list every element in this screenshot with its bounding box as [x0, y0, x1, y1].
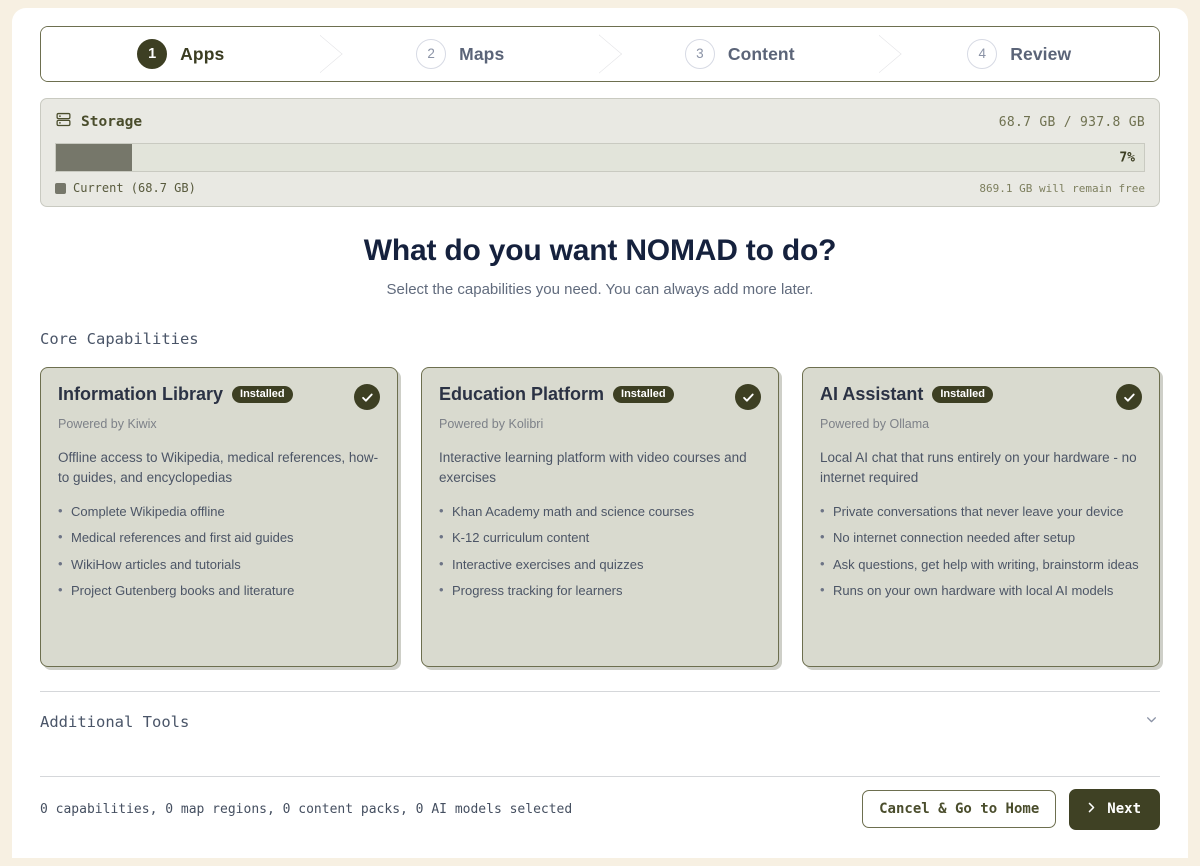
storage-capacity-text: 68.7 GB / 937.8 GB [999, 115, 1145, 130]
list-item: K-12 curriculum content [439, 528, 761, 547]
list-item: Ask questions, get help with writing, br… [820, 555, 1142, 574]
step-maps-number: 2 [416, 39, 446, 69]
selected-check-icon[interactable] [354, 384, 380, 410]
storage-title-group: Storage [55, 111, 142, 133]
legend-color-swatch [55, 183, 66, 194]
core-capabilities-heading: Core Capabilities [40, 330, 1160, 348]
selected-check-icon[interactable] [1116, 384, 1142, 410]
card-feature-list: Khan Academy math and science courses K-… [439, 502, 761, 600]
card-powered-by: Powered by Kiwix [58, 417, 380, 431]
capability-card-information-library[interactable]: Information Library Installed Powered by… [40, 367, 398, 667]
legend-current-label: Current (68.7 GB) [73, 181, 196, 195]
step-maps[interactable]: 2 Maps [321, 27, 601, 81]
list-item: No internet connection needed after setu… [820, 528, 1142, 547]
storage-progress-bar: 7% [55, 143, 1145, 172]
card-header: Information Library Installed [58, 384, 380, 410]
status-badge: Installed [613, 386, 674, 403]
list-item: WikiHow articles and tutorials [58, 555, 380, 574]
list-item: Project Gutenberg books and literature [58, 581, 380, 600]
step-content-number: 3 [685, 39, 715, 69]
step-content-label: Content [728, 44, 795, 65]
step-content[interactable]: 3 Content [600, 27, 880, 81]
card-header: Education Platform Installed [439, 384, 761, 410]
additional-tools-accordion[interactable]: Additional Tools [40, 692, 1160, 752]
list-item: Complete Wikipedia offline [58, 502, 380, 521]
storage-panel: Storage 68.7 GB / 937.8 GB 7% Current (6… [40, 98, 1160, 207]
setup-wizard-window: 1 Apps 2 Maps 3 Content 4 Review [12, 8, 1188, 858]
card-title: Education Platform [439, 384, 604, 405]
step-apps-number: 1 [137, 39, 167, 69]
step-maps-label: Maps [459, 44, 504, 65]
card-title: AI Assistant [820, 384, 923, 405]
card-description: Local AI chat that runs entirely on your… [820, 448, 1142, 487]
storage-footer: Current (68.7 GB) 869.1 GB will remain f… [55, 181, 1145, 195]
card-header: AI Assistant Installed [820, 384, 1142, 410]
storage-header: Storage 68.7 GB / 937.8 GB [55, 111, 1145, 133]
storage-legend: Current (68.7 GB) [55, 181, 196, 195]
card-title-group: AI Assistant Installed [820, 384, 993, 405]
status-badge: Installed [932, 386, 993, 403]
card-title-group: Education Platform Installed [439, 384, 674, 405]
page-subtitle: Select the capabilities you need. You ca… [40, 281, 1160, 298]
card-powered-by: Powered by Kolibri [439, 417, 761, 431]
storage-progress-fill [56, 144, 132, 171]
wizard-stepper: 1 Apps 2 Maps 3 Content 4 Review [40, 26, 1160, 82]
storage-percent-label: 7% [1119, 150, 1135, 165]
page-title: What do you want NOMAD to do? [40, 234, 1160, 268]
storage-remaining-label: 869.1 GB will remain free [979, 182, 1145, 195]
list-item: Progress tracking for learners [439, 581, 761, 600]
chevron-right-icon [1085, 801, 1098, 818]
step-review-label: Review [1010, 44, 1071, 65]
card-title-group: Information Library Installed [58, 384, 293, 405]
step-review[interactable]: 4 Review [880, 27, 1160, 81]
storage-title: Storage [81, 114, 142, 130]
next-button[interactable]: Next [1069, 789, 1160, 830]
card-feature-list: Complete Wikipedia offline Medical refer… [58, 502, 380, 600]
status-badge: Installed [232, 386, 293, 403]
list-item: Runs on your own hardware with local AI … [820, 581, 1142, 600]
card-description: Interactive learning platform with video… [439, 448, 761, 487]
step-apps[interactable]: 1 Apps [41, 27, 321, 81]
card-feature-list: Private conversations that never leave y… [820, 502, 1142, 600]
next-button-label: Next [1107, 801, 1141, 817]
capability-card-education-platform[interactable]: Education Platform Installed Powered by … [421, 367, 779, 667]
card-title: Information Library [58, 384, 223, 405]
chevron-down-icon[interactable] [1143, 711, 1160, 733]
list-item: Interactive exercises and quizzes [439, 555, 761, 574]
step-apps-label: Apps [180, 44, 224, 65]
cancel-button[interactable]: Cancel & Go to Home [862, 790, 1056, 828]
selection-summary: 0 capabilities, 0 map regions, 0 content… [40, 802, 572, 817]
step-review-number: 4 [967, 39, 997, 69]
storage-server-icon [55, 111, 72, 133]
footer-actions: Cancel & Go to Home Next [862, 789, 1160, 830]
hero-section: What do you want NOMAD to do? Select the… [40, 234, 1160, 298]
list-item: Medical references and first aid guides [58, 528, 380, 547]
card-description: Offline access to Wikipedia, medical ref… [58, 448, 380, 487]
wizard-footer: 0 capabilities, 0 map regions, 0 content… [40, 777, 1160, 841]
selected-check-icon[interactable] [735, 384, 761, 410]
card-powered-by: Powered by Ollama [820, 417, 1142, 431]
list-item: Khan Academy math and science courses [439, 502, 761, 521]
capability-card-ai-assistant[interactable]: AI Assistant Installed Powered by Ollama… [802, 367, 1160, 667]
capability-card-list: Information Library Installed Powered by… [40, 367, 1160, 667]
list-item: Private conversations that never leave y… [820, 502, 1142, 521]
additional-tools-label: Additional Tools [40, 713, 189, 731]
